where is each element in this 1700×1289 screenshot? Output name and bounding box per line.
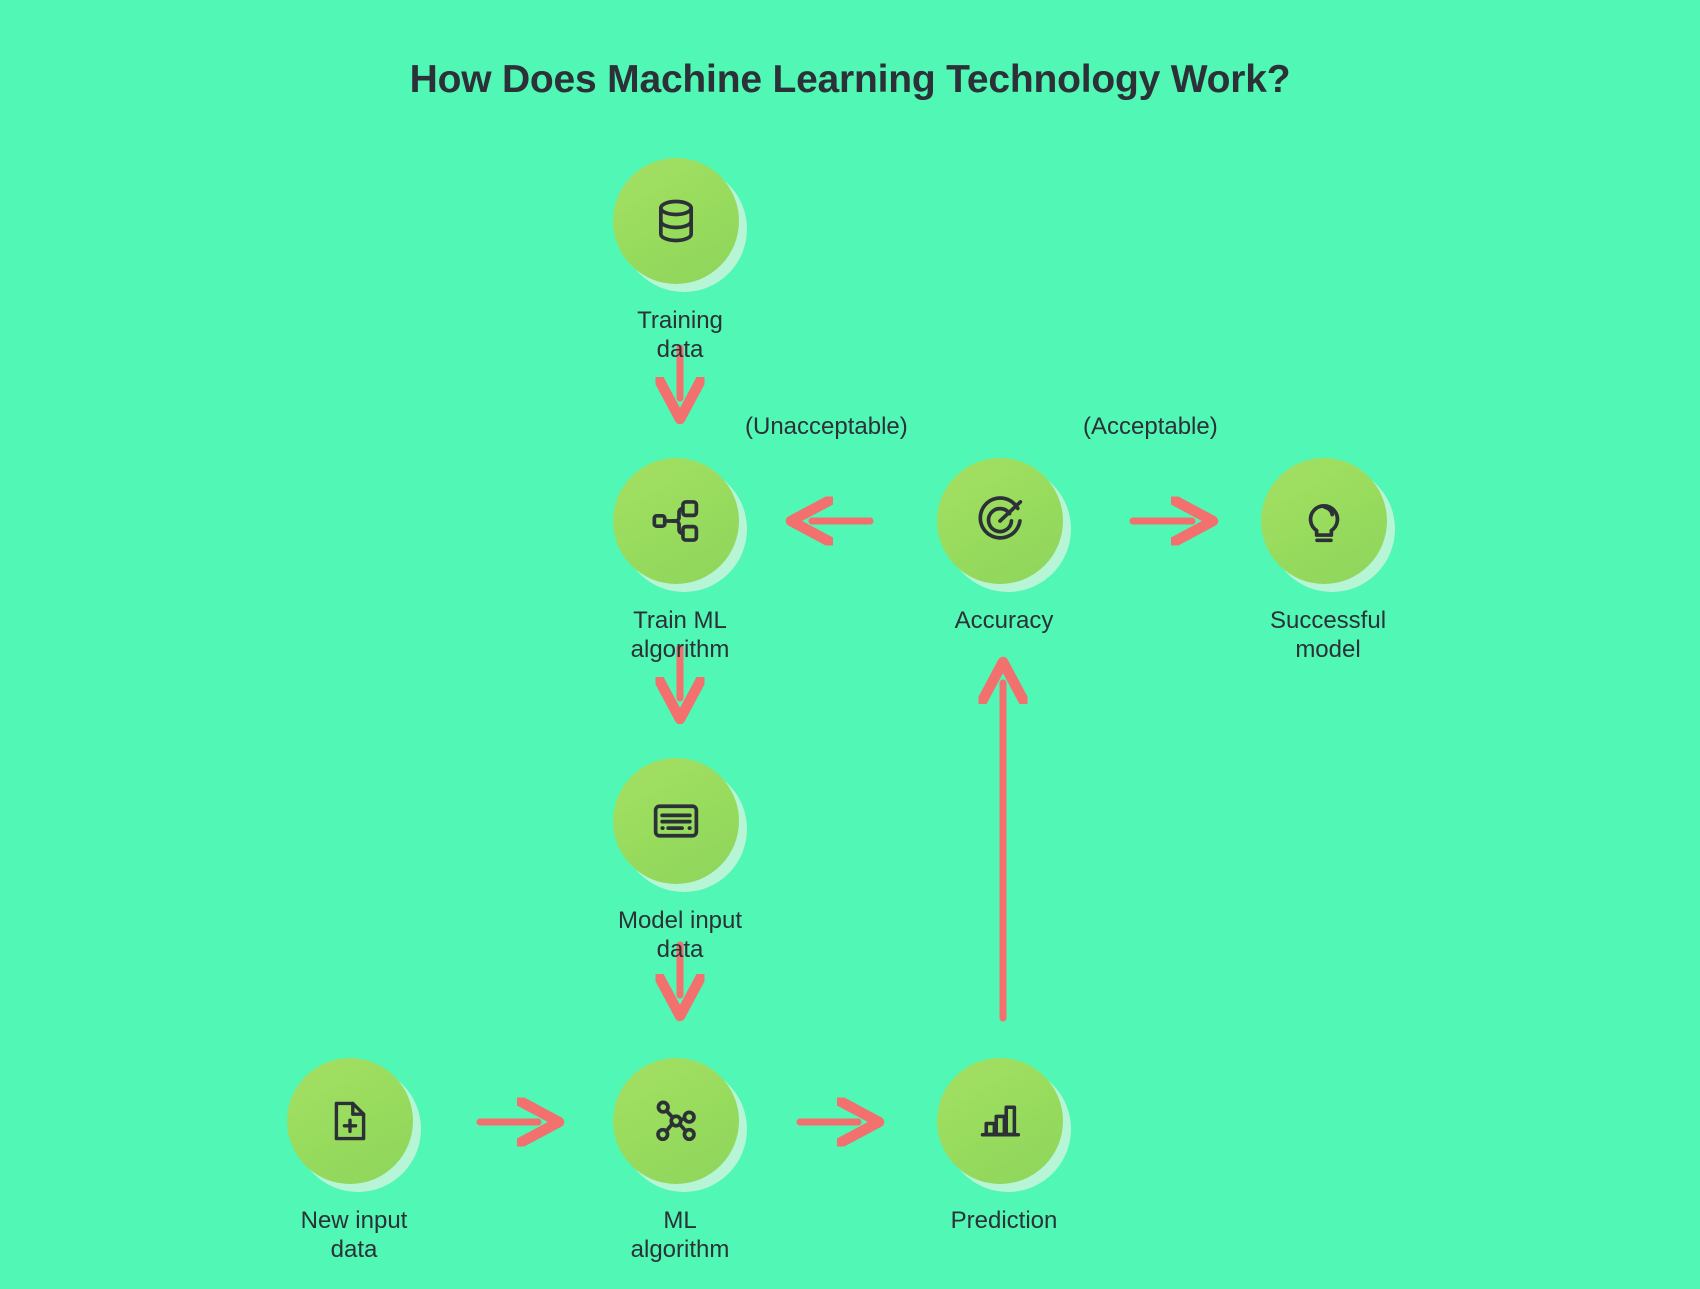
node-disc-wrap bbox=[613, 458, 747, 592]
node-disc-wrap bbox=[937, 1058, 1071, 1192]
node-new-input-data[interactable]: New input data bbox=[286, 1058, 422, 1264]
node-disc bbox=[613, 1058, 739, 1184]
node-label: Model input data bbox=[612, 906, 748, 964]
node-disc-wrap bbox=[1261, 458, 1395, 592]
node-disc-wrap bbox=[937, 458, 1071, 592]
annotation-unacceptable: (Unacceptable) bbox=[745, 413, 908, 441]
node-disc bbox=[1261, 458, 1387, 584]
bar-chart-icon bbox=[975, 1096, 1025, 1146]
node-disc-wrap bbox=[287, 1058, 421, 1192]
node-training-data[interactable]: Training data bbox=[612, 158, 748, 364]
node-disc bbox=[287, 1058, 413, 1184]
node-disc-wrap bbox=[613, 158, 747, 292]
annotation-acceptable: (Acceptable) bbox=[1083, 413, 1218, 441]
node-disc bbox=[613, 158, 739, 284]
node-label: Successful model bbox=[1260, 606, 1396, 664]
diagram-canvas: How Does Machine Learning Technology Wor… bbox=[0, 0, 1700, 1289]
node-label: Training data bbox=[612, 306, 748, 364]
form-card-icon bbox=[650, 795, 702, 847]
file-plus-icon bbox=[326, 1097, 374, 1145]
node-disc bbox=[937, 458, 1063, 584]
database-icon bbox=[650, 195, 702, 247]
node-disc-wrap bbox=[613, 758, 747, 892]
node-prediction[interactable]: Prediction bbox=[936, 1058, 1072, 1235]
node-label: New input data bbox=[286, 1206, 422, 1264]
node-disc bbox=[937, 1058, 1063, 1184]
lightbulb-icon bbox=[1298, 495, 1350, 547]
node-ml-algorithm[interactable]: ML algorithm bbox=[612, 1058, 748, 1264]
network-nodes-icon bbox=[650, 1095, 702, 1147]
node-label: Train ML algorithm bbox=[612, 606, 748, 664]
node-disc bbox=[613, 458, 739, 584]
node-model-input-data[interactable]: Model input data bbox=[612, 758, 748, 964]
node-disc bbox=[613, 758, 739, 884]
arrow-layer bbox=[0, 0, 1700, 1289]
page-title: How Does Machine Learning Technology Wor… bbox=[0, 58, 1700, 102]
node-train-ml-algorithm[interactable]: Train ML algorithm bbox=[612, 458, 748, 664]
sitemap-icon bbox=[650, 495, 702, 547]
node-label: ML algorithm bbox=[612, 1206, 748, 1264]
node-label: Prediction bbox=[936, 1206, 1072, 1235]
node-accuracy[interactable]: Accuracy bbox=[936, 458, 1072, 635]
node-disc-wrap bbox=[613, 1058, 747, 1192]
node-successful-model[interactable]: Successful model bbox=[1260, 458, 1396, 664]
target-icon bbox=[974, 495, 1026, 547]
node-label: Accuracy bbox=[936, 606, 1072, 635]
